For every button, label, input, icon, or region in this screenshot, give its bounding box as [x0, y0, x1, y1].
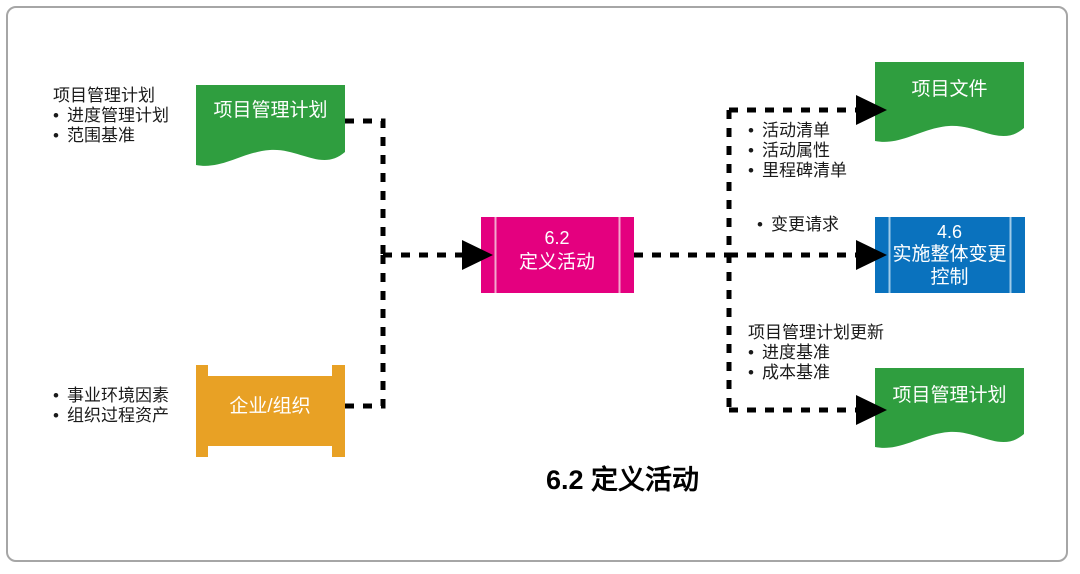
bullet-icon: • — [53, 406, 67, 426]
annotation-item: •活动清单 — [748, 121, 847, 141]
bullet-icon: • — [748, 363, 762, 383]
annotation-change-request: •变更请求 — [757, 215, 839, 235]
shape-label-define-activities: 定义活动 — [495, 252, 619, 275]
bullet-icon: • — [53, 126, 67, 146]
annotation-item: •事业环境因素 — [53, 386, 169, 406]
shape-label-change-control-number: 4.6 — [889, 222, 1010, 244]
bullet-icon: • — [748, 161, 762, 181]
shape-label-define-activities-number: 6.2 — [495, 228, 619, 250]
annotation-heading: 项目管理计划 — [53, 86, 169, 106]
shape-project-documents — [875, 62, 1024, 142]
bullet-icon: • — [757, 215, 771, 235]
annotation-pm-plan-inputs: 项目管理计划 •进度管理计划 •范围基准 — [53, 86, 169, 146]
annotation-enterprise-inputs: •事业环境因素 •组织过程资产 — [53, 386, 169, 426]
diagram-title: 6.2 定义活动 — [546, 458, 699, 497]
shape-pm-plan-updates — [875, 368, 1024, 448]
connector-pmplan-to-trunk — [345, 121, 383, 255]
annotation-item: •活动属性 — [748, 141, 847, 161]
annotation-item: •组织过程资产 — [53, 406, 169, 426]
shape-label-enterprise-org: 企业/组织 — [208, 396, 332, 419]
annotation-item: •进度基准 — [748, 343, 884, 363]
bullet-icon: • — [748, 343, 762, 363]
annotation-item: •进度管理计划 — [53, 106, 169, 126]
bullet-icon: • — [748, 121, 762, 141]
shape-label-pm-plan-updates: 项目管理计划 — [875, 385, 1024, 408]
shape-label-change-control: 实施整体变更 控制 — [889, 244, 1010, 290]
annotation-item: •里程碑清单 — [748, 161, 847, 181]
annotation-item: •范围基准 — [53, 126, 169, 146]
annotation-pm-plan-updates: 项目管理计划更新 •进度基准 •成本基准 — [748, 323, 884, 383]
annotation-item: •变更请求 — [757, 215, 839, 235]
bullet-icon: • — [53, 386, 67, 406]
shape-label-project-documents: 项目文件 — [875, 79, 1024, 102]
annotation-project-documents-outputs: •活动清单 •活动属性 •里程碑清单 — [748, 121, 847, 181]
bullet-icon: • — [53, 106, 67, 126]
diagram-canvas: 项目管理计划 企业/组织 6.2 定义活动 项目文件 4.6 实施整体变更 控制… — [0, 0, 1080, 574]
shape-pm-plan-doc — [196, 85, 345, 166]
connector-org-to-trunk — [345, 255, 383, 406]
bullet-icon: • — [748, 141, 762, 161]
annotation-heading: 项目管理计划更新 — [748, 323, 884, 343]
shape-label-pm-plan-doc: 项目管理计划 — [196, 100, 345, 123]
annotation-item: •成本基准 — [748, 363, 884, 383]
